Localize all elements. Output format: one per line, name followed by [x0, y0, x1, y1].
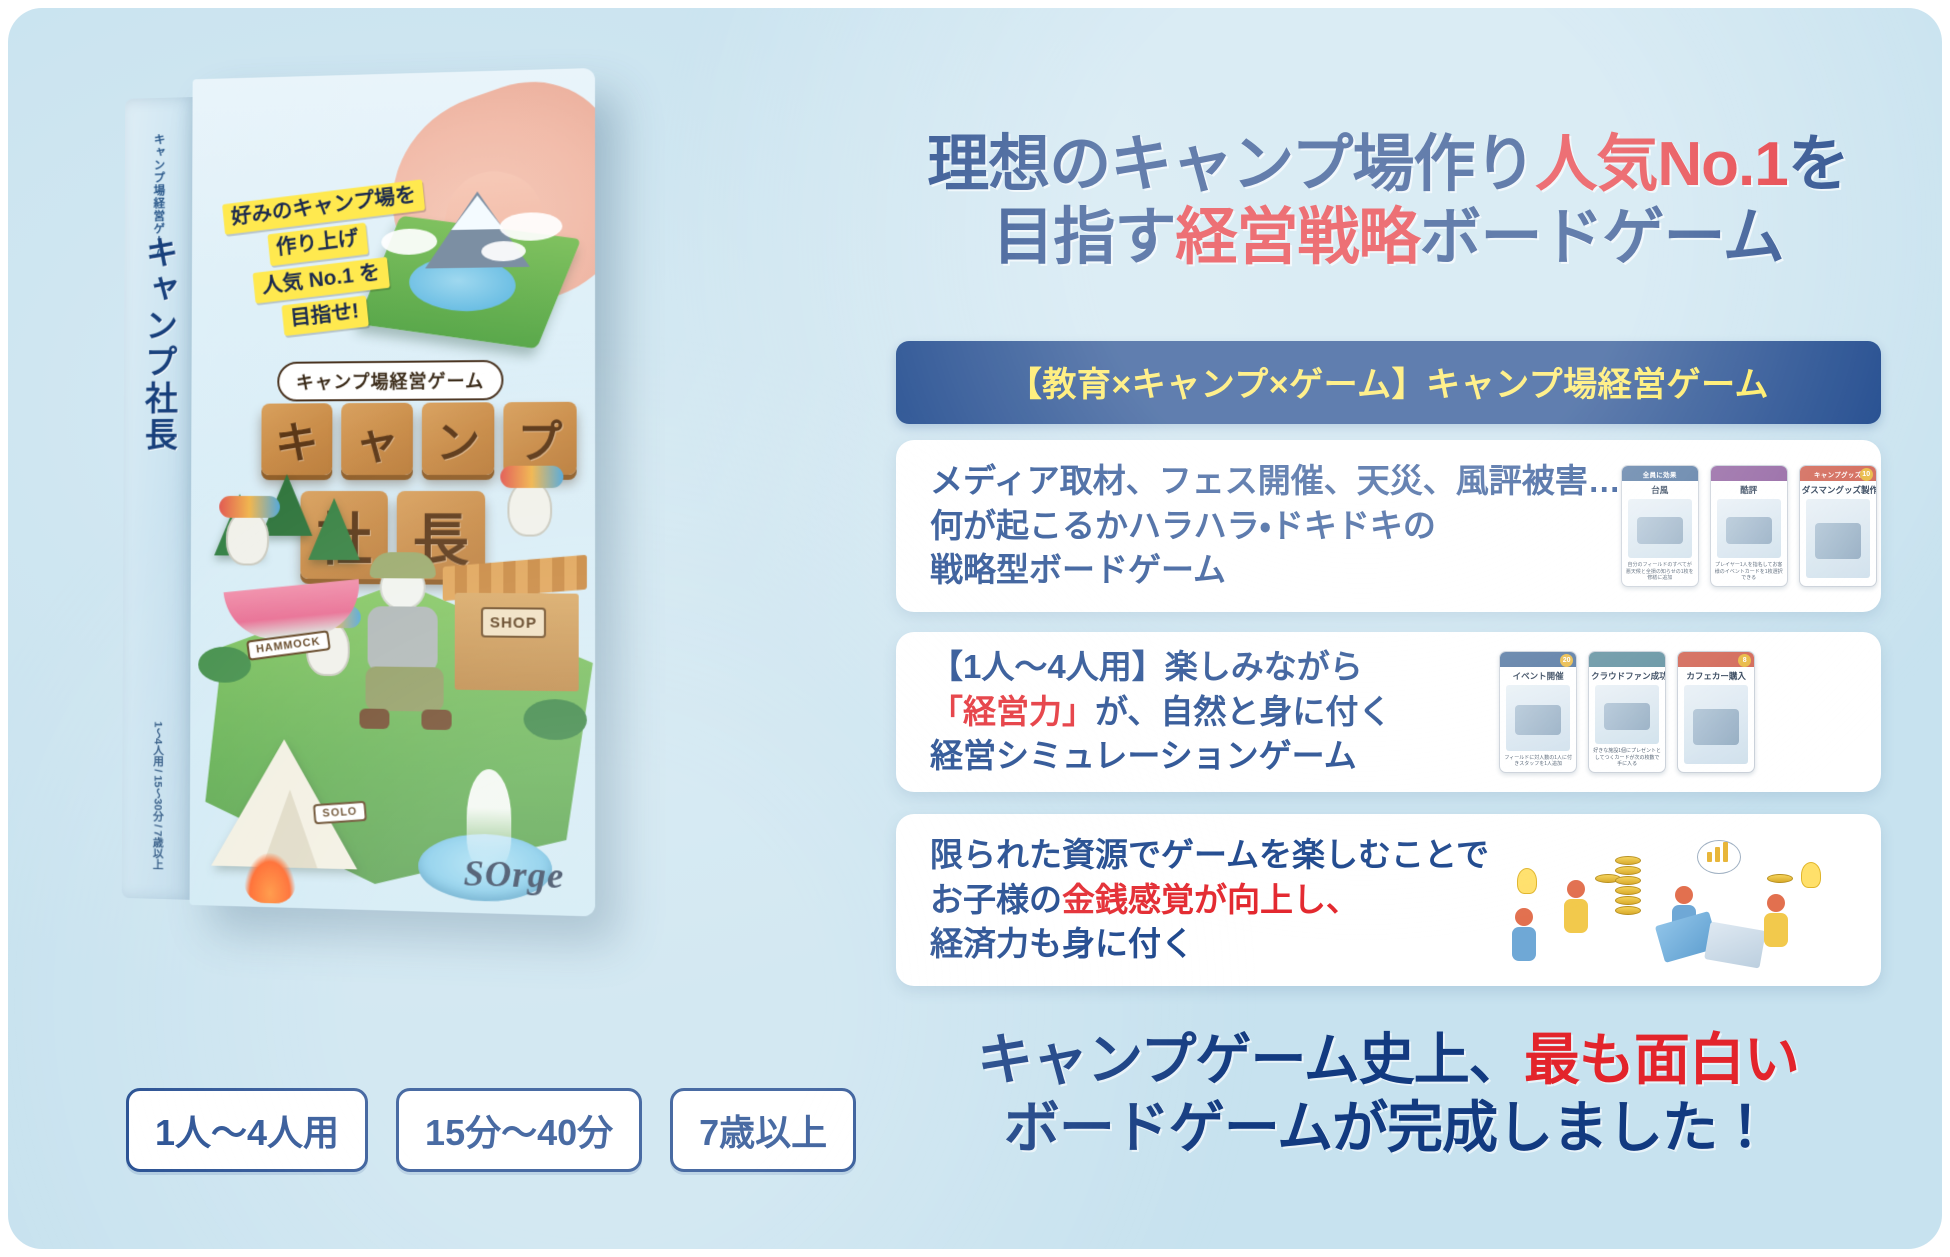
game-card-desc: 自分のフィールドのすべてが悪天候と全損の知らせの1枚を修繕に追加 [1622, 560, 1698, 586]
game-card-title: 台風 [1622, 481, 1698, 497]
title-tile: ャ [341, 403, 413, 475]
closing-copy: キャンプゲーム史上、最も面白い ボードゲームが完成しました！ [868, 1026, 1908, 1163]
game-card: カフェカー購入 8 [1677, 651, 1755, 773]
title-tile: プ [503, 402, 576, 475]
game-card-title: 酷評 [1711, 481, 1787, 497]
coin-icon [1615, 906, 1641, 915]
game-card-title: カフェカー購入 [1678, 667, 1754, 683]
game-card-desc: フィールドに対人数の1人に付きスタッフを1人追加 [1500, 753, 1576, 773]
feature-card-2-art: イベント開催 フィールドに対人数の1人に付きスタッフを1人追加 20 クラウドフ… [1391, 632, 1881, 792]
coin-icon [1615, 896, 1641, 905]
game-card-tag: 全員に効果 [1622, 466, 1698, 481]
closing-line-1: キャンプゲーム史上、最も面白い [868, 1026, 1908, 1094]
shop-building: SHOP [451, 560, 579, 691]
title-tile: キ [261, 403, 332, 475]
game-card-desc [1678, 766, 1754, 772]
feature-2-line-1: 【1人〜4人用】楽しみながら [930, 645, 1391, 690]
child-figure [1563, 880, 1589, 934]
copy-column: 理想のキャンプ場作り人気No.1を 目指す経営戦略ボードゲーム 【教育×キャンプ… [868, 8, 1928, 1249]
campfire-icon [244, 852, 295, 903]
spine-title: キャンプ社長 [135, 235, 183, 454]
game-card-desc [1800, 580, 1876, 586]
chart-bar-icon [1723, 842, 1728, 862]
bush-icon [524, 699, 587, 741]
catch-copy-line-1: 好みのキャンプ場を [222, 179, 426, 235]
camp-scene-illustration: SHOP HAMMOCK [190, 468, 596, 917]
spec-badge-age: 7歳以上 [670, 1088, 856, 1172]
spec-badge-players: 1人〜4人用 [126, 1088, 368, 1172]
spec-badge-row: 1人〜4人用 15分〜40分 7歳以上 [126, 1088, 856, 1172]
game-card-title: クラウドファン成功 [1589, 667, 1665, 683]
game-card-desc: プレイヤー1人を指名してお客様のイベントカードを1枚選択できる [1711, 560, 1787, 586]
coin-icon [1615, 866, 1641, 875]
headline-text: 目指す [992, 203, 1175, 272]
spine-specs: 1〜4人用 / 15〜30分 / 7歳以上 [147, 721, 168, 869]
feature-card-3: 限られた資源でゲームを楽しむことで お子様の金銭感覚が向上し、 経済力も身に付く [896, 814, 1881, 986]
shop-sign-label: SHOP [481, 607, 546, 638]
bush-icon [198, 647, 251, 683]
headline-line-2: 目指す経営戦略ボードゲーム [868, 201, 1908, 274]
game-card: 酷評 プレイヤー1人を指名してお客様のイベントカードを1枚選択できる [1710, 465, 1788, 587]
advertisement-page: キャンプ場経営ゲーム キャンプ社長 1〜4人用 / 15〜30分 / 7歳以上 [0, 0, 1950, 1257]
book-icon [1704, 921, 1766, 968]
feature-3-line-2: お子様の金銭感覚が向上し、 [930, 878, 1489, 923]
package-spine: キャンプ場経営ゲーム キャンプ社長 1〜4人用 / 15〜30分 / 7歳以上 [122, 97, 195, 900]
money-education-illustration [1511, 834, 1841, 966]
lightbulb-icon [1517, 868, 1537, 894]
feature-3-line-1: 限られた資源でゲームを楽しむことで [930, 833, 1489, 878]
package-3d: キャンプ場経営ゲーム キャンプ社長 1〜4人用 / 15〜30分 / 7歳以上 [122, 68, 595, 917]
closing-text: キャンプゲーム史上、 [977, 1028, 1524, 1091]
chart-bar-icon [1715, 847, 1720, 862]
game-card: クラウドファン成功 好きな施設1個にプレゼントとしてつくカードが次の枚数で手に入… [1588, 651, 1666, 773]
closing-highlight: 最も面白い [1524, 1028, 1799, 1091]
feature-2-highlight: 「経営力」 [930, 693, 1095, 730]
title-tile: ン [422, 402, 495, 475]
feature-card-3-art [1489, 814, 1881, 986]
game-card-title: イベント開催 [1500, 667, 1576, 683]
game-card-samples-row-1: 全員に効果 台風 自分のフィールドのすべてが悪天候と全損の知らせの1枚を修繕に追… [1621, 465, 1877, 587]
coin-icon [1615, 856, 1641, 865]
main-panel: キャンプ場経営ゲーム キャンプ社長 1〜4人用 / 15〜30分 / 7歳以上 [8, 8, 1942, 1249]
lightbulb-icon [1801, 862, 1821, 888]
camper-figure [357, 564, 453, 724]
tree-icon [308, 498, 360, 560]
game-card-desc: 好きな施設1個にプレゼントとしてつくカードが次の枚数で手に入る [1589, 746, 1665, 772]
feature-3-line-2-pre: お子様の [930, 881, 1062, 918]
game-card: イベント開催 フィールドに対人数の1人に付きスタッフを1人追加 20 [1499, 651, 1577, 773]
totem-icon [226, 510, 269, 566]
game-card-title: ダスマングッズ製作・販売 [1800, 481, 1876, 497]
game-card-art [1628, 499, 1692, 558]
game-card-art [1717, 499, 1781, 558]
hand-photo [366, 68, 595, 338]
brand-logo: SOrge [464, 852, 565, 897]
game-card: キャンプグッズ ダスマングッズ製作・販売 10 [1799, 465, 1877, 587]
geyser-icon [467, 769, 512, 867]
feature-card-2-text: 【1人〜4人用】楽しみながら 「経営力」が、自然と身に付く 経営シミュレーション… [896, 645, 1391, 780]
closing-line-2: ボードゲームが完成しました！ [868, 1094, 1908, 1162]
feature-2-line-2-rest: が、自然と身に付く [1095, 693, 1391, 730]
package-title-row-1: キ ャ ン プ [261, 402, 576, 475]
catch-copy-line-4: 目指せ! [281, 296, 369, 337]
mountain-tile-icon [373, 182, 564, 340]
page-title: 理想のキャンプ場作り人気No.1を 目指す経営戦略ボードゲーム [868, 128, 1908, 274]
catch-copy-line-2: 作り上げ [267, 223, 368, 266]
child-figure [1511, 908, 1537, 962]
coin-icon [1767, 874, 1793, 883]
totem-icon [507, 480, 552, 537]
closing-text: が完成しました！ [1332, 1096, 1772, 1159]
package-genre-pill: キャンプ場経営ゲーム [277, 360, 503, 402]
game-card-art [1595, 685, 1659, 744]
spec-badge-duration: 15分〜40分 [396, 1088, 642, 1172]
product-box-image: キャンプ場経営ゲーム キャンプ社長 1〜4人用 / 15〜30分 / 7歳以上 [63, 43, 713, 973]
headline-text: ボードゲーム [1419, 203, 1783, 272]
feature-3-highlight: 金銭感覚が向上し、 [1062, 881, 1359, 918]
game-card: 全員に効果 台風 自分のフィールドのすべてが悪天候と全損の知らせの1枚を修繕に追… [1621, 465, 1699, 587]
game-card-cost-badge: 10 [1860, 468, 1873, 481]
feature-card-1-text: メディア取材、フェス開催、天災、風評被害… 何が起こるかハラハラ・ドキドキの 戦… [896, 459, 1621, 594]
headline-highlight: 人気No.1 [1535, 130, 1787, 199]
game-card-tag [1711, 466, 1787, 481]
feature-2-line-3: 経営シミュレーションゲーム [930, 734, 1391, 779]
feature-card-3-text: 限られた資源でゲームを楽しむことで お子様の金銭感覚が向上し、 経済力も身に付く [896, 833, 1489, 968]
closing-text: ボードゲーム [1004, 1096, 1332, 1159]
game-card-tag [1589, 652, 1665, 667]
chart-bar-icon [1707, 852, 1712, 862]
solo-label: SOLO [313, 801, 367, 825]
headline-text: 理想のキャンプ場作り [927, 130, 1535, 199]
feature-3-line-3: 経済力も身に付く [930, 922, 1489, 967]
title-tile: 長 [397, 491, 486, 580]
coin-icon [1615, 876, 1641, 885]
feature-1-line-1: メディア取材、フェス開催、天災、風評被害… [930, 459, 1621, 504]
category-banner: 【教育×キャンプ×ゲーム】キャンプ場経営ゲーム [896, 341, 1881, 424]
game-card-art [1806, 499, 1870, 578]
game-card-art [1506, 685, 1570, 751]
feature-card-2: 【1人〜4人用】楽しみながら 「経営力」が、自然と身に付く 経営シミュレーション… [896, 632, 1881, 792]
coin-icon [1615, 886, 1641, 895]
headline-line-1: 理想のキャンプ場作り人気No.1を [868, 128, 1908, 201]
game-card-samples-row-2: イベント開催 フィールドに対人数の1人に付きスタッフを1人追加 20 クラウドフ… [1499, 651, 1755, 773]
package-front: 好みのキャンプ場を 作り上げ 人気 No.1 を 目指せ! キャンプ場経営ゲーム… [190, 68, 596, 917]
game-card-art [1684, 685, 1748, 764]
finger-photo [422, 162, 553, 331]
feature-1-line-3: 戦略型ボードゲーム [930, 548, 1621, 593]
headline-text: を [1788, 130, 1849, 199]
headline-highlight: 経営戦略 [1175, 203, 1419, 272]
hot-spring-pond [418, 833, 552, 903]
child-figure [1763, 894, 1789, 948]
feature-1-line-2: 何が起こるかハラハラ・ドキドキの [930, 504, 1621, 549]
feature-card-1-art: 全員に効果 台風 自分のフィールドのすべてが悪天候と全損の知らせの1枚を修繕に追… [1621, 440, 1881, 612]
feature-2-line-2: 「経営力」が、自然と身に付く [930, 690, 1391, 735]
catch-copy-block: 好みのキャンプ場を 作り上げ 人気 No.1 を 目指せ! [222, 182, 418, 347]
feature-card-1: メディア取材、フェス開催、天災、風評被害… 何が起こるかハラハラ・ドキドキの 戦… [896, 440, 1881, 612]
